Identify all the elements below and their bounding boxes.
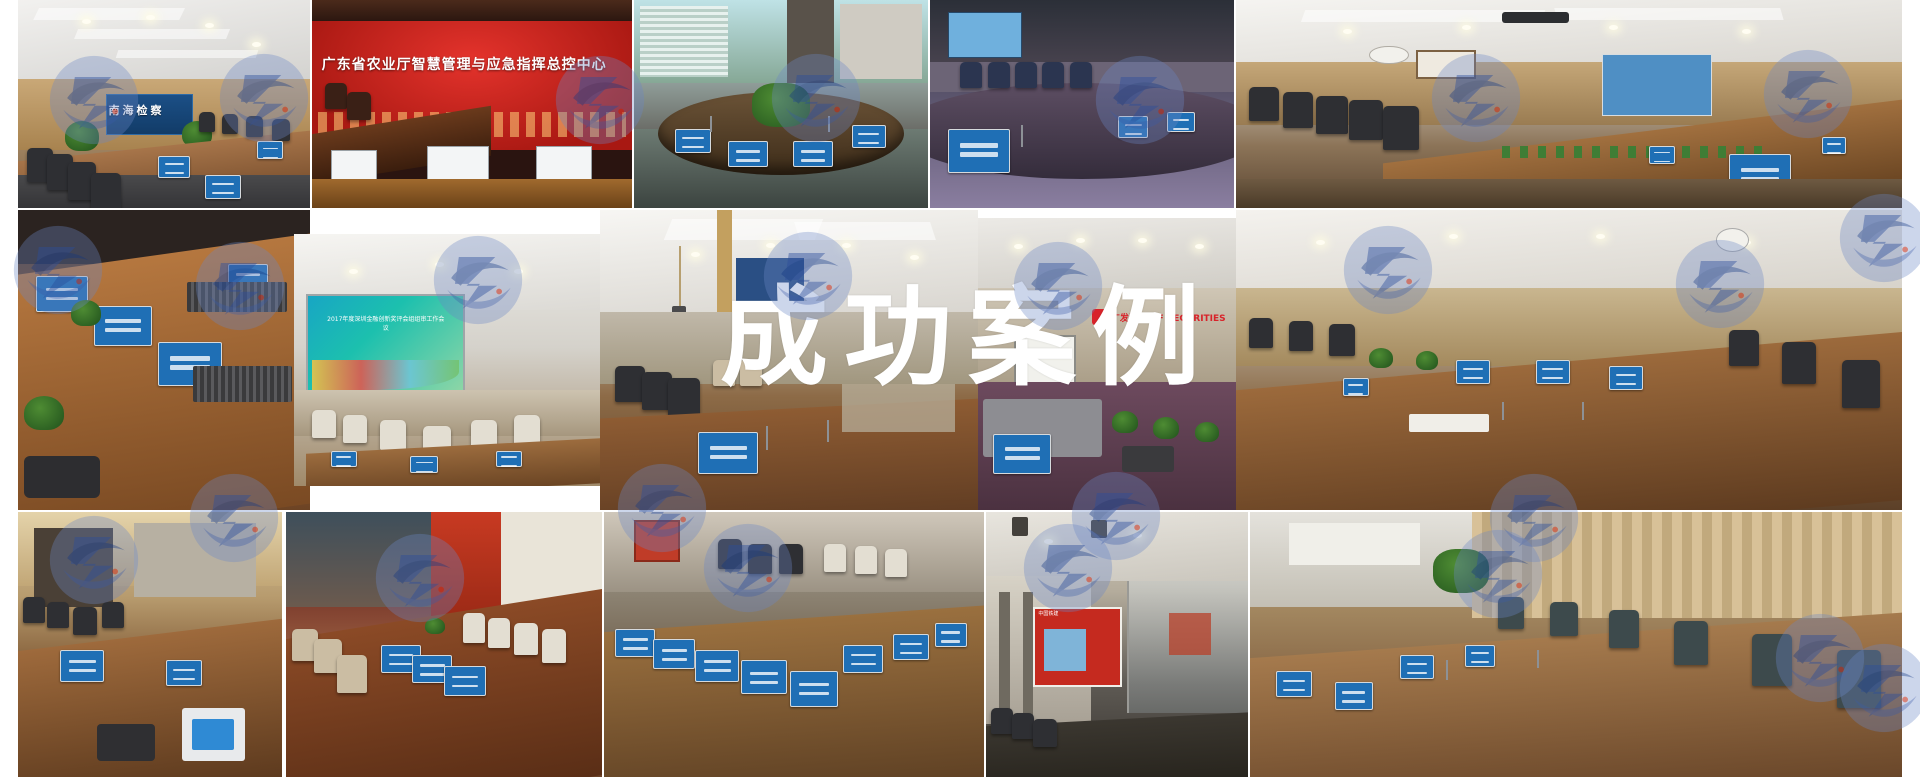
photo-tile-r2c3[interactable] <box>600 210 978 510</box>
collage-row-2: 2017年度深圳金融创新奖评会组组审工作会议 <box>0 210 1920 510</box>
photo-tile-r2c5[interactable] <box>1236 210 1902 510</box>
photo-tile-r3c5[interactable] <box>1250 512 1902 777</box>
photo-tile-r1c4[interactable] <box>930 0 1234 208</box>
photo-tile-r3c1[interactable] <box>18 512 282 777</box>
photo-tile-r1c1[interactable]: 南海检察 <box>18 0 310 208</box>
photo-caption-r1c1: 南海检察 <box>109 102 165 118</box>
photo-tile-r2c1[interactable] <box>18 210 310 510</box>
photo-tile-r1c2[interactable]: 广东省农业厅智慧管理与应急指挥总控中心 <box>312 0 632 208</box>
photo-caption-r2c2: 2017年度深圳金融创新奖评会组组审工作会议 <box>325 315 447 333</box>
photo-tile-r3c2[interactable] <box>286 512 602 777</box>
photo-tile-r3c4[interactable]: 中国铁建 <box>986 512 1248 777</box>
photo-tile-r2c4[interactable]: 广发证券 GF SECURITIES <box>978 218 1236 510</box>
photo-tile-r3c3[interactable] <box>604 512 984 777</box>
photo-collage: 南海检察 广东省农 <box>0 0 1920 777</box>
photo-caption-r3c4: 中国铁建 <box>1038 610 1058 617</box>
photo-tile-r1c3[interactable] <box>634 0 928 208</box>
photo-caption-r2c4: 广发证券 GF SECURITIES <box>1111 311 1226 324</box>
photo-tile-r1c5[interactable] <box>1236 0 1902 208</box>
collage-row-3: 中国铁建 <box>0 512 1920 777</box>
collage-row-1: 南海检察 广东省农 <box>0 0 1920 208</box>
photo-tile-r2c2[interactable]: 2017年度深圳金融创新奖评会组组审工作会议 <box>294 234 600 486</box>
photo-caption-r1c2: 广东省农业厅智慧管理与应急指挥总控中心 <box>322 54 607 74</box>
